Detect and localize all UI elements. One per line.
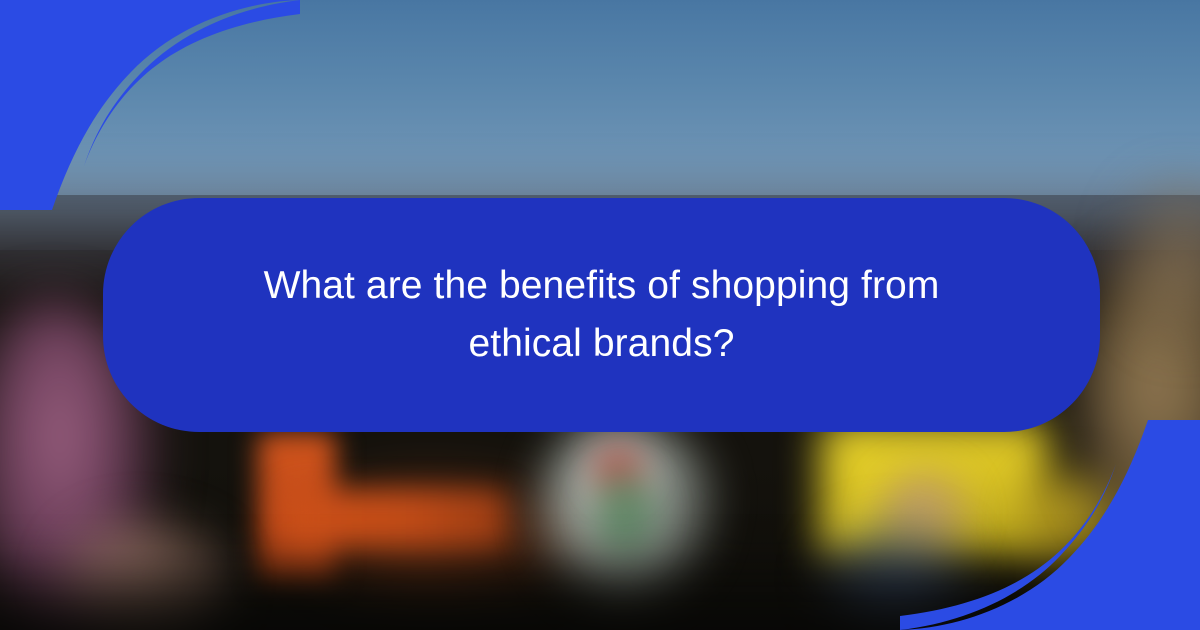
question-card: What are the benefits of shopping from e… [103, 198, 1100, 432]
bottom-vignette [0, 545, 1200, 630]
question-text: What are the benefits of shopping from e… [257, 257, 947, 373]
orange-banner-arm-blob [286, 490, 506, 548]
og-image-canvas: What are the benefits of shopping from e… [0, 0, 1200, 630]
